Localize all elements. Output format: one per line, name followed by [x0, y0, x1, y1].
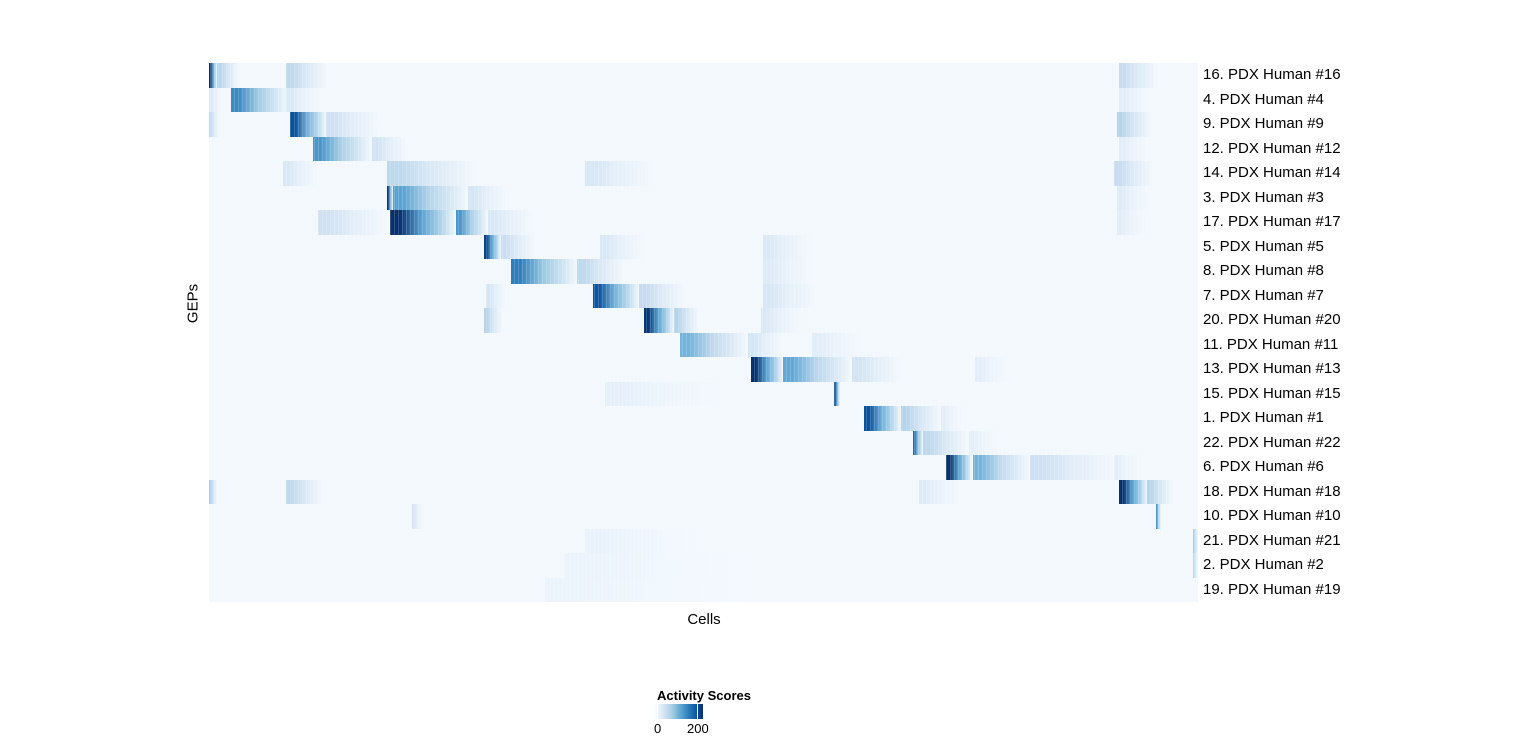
gep-row-label: 15. PDX Human #15	[1203, 382, 1341, 407]
colorbar-gradient	[655, 704, 703, 719]
heatmap-activity-block	[1193, 529, 1198, 554]
colorbar-legend: Activity Scores 0 200	[600, 688, 820, 743]
gep-row-label: 5. PDX Human #5	[1203, 235, 1324, 260]
heatmap-row	[209, 553, 1198, 578]
heatmap-activity-block	[387, 161, 476, 186]
heatmap-activity-block	[484, 235, 501, 260]
heatmap-row	[209, 431, 1198, 456]
heatmap-activity-block	[1119, 137, 1147, 162]
heatmap-row	[209, 382, 1198, 407]
heatmap-activity-block	[1147, 480, 1174, 505]
colorbar-tick-0	[657, 704, 658, 719]
heatmap-row	[209, 504, 1198, 529]
gep-row-label: 9. PDX Human #9	[1203, 112, 1324, 137]
heatmap-activity-block	[501, 235, 536, 260]
heatmap-row	[209, 63, 1198, 88]
heatmap-row	[209, 112, 1198, 137]
heatmap-activity-block	[1117, 210, 1147, 235]
heatmap-row	[209, 186, 1198, 211]
heatmap-activity-block	[209, 480, 217, 505]
heatmap-row	[209, 284, 1198, 309]
heatmap-activity-block	[763, 284, 817, 309]
heatmap-activity-block	[674, 308, 699, 333]
heatmap-activity-block	[1119, 63, 1159, 88]
gep-row-label: 11. PDX Human #11	[1203, 333, 1338, 358]
heatmap-activity-block	[393, 186, 468, 211]
heatmap-activity-block	[577, 259, 624, 284]
heatmap-activity-block	[372, 137, 407, 162]
heatmap-activity-block	[412, 504, 422, 529]
colorbar-ticklabel-200: 200	[687, 721, 709, 736]
heatmap-activity-block	[919, 480, 961, 505]
gep-row-label: 17. PDX Human #17	[1203, 210, 1341, 235]
heatmap-row	[209, 480, 1198, 505]
heatmap-activity-block	[290, 112, 326, 137]
heatmap-activity-block	[286, 63, 328, 88]
heatmap-row	[209, 406, 1198, 431]
heatmap-activity-block	[486, 284, 506, 309]
colorbar-title: Activity Scores	[600, 688, 808, 703]
heatmap-activity-block	[209, 88, 221, 113]
heatmap-row	[209, 259, 1198, 284]
heatmap-activity-block	[644, 308, 674, 333]
heatmap-activity-block	[783, 357, 852, 382]
heatmap-row	[209, 333, 1198, 358]
heatmap-activity-block	[456, 210, 488, 235]
gep-row-label-list: 16. PDX Human #164. PDX Human #49. PDX H…	[1203, 63, 1533, 602]
heatmap-activity-block	[975, 357, 1010, 382]
heatmap-activity-block	[283, 161, 318, 186]
heatmap-activity-block	[593, 284, 639, 309]
heatmap-activity-block	[585, 529, 704, 554]
heatmap-activity-block	[1030, 455, 1114, 480]
heatmap-row	[209, 529, 1198, 554]
heatmap-activity-block	[605, 382, 724, 407]
colorbar-tick-200	[697, 704, 698, 719]
heatmap-activity-block	[326, 112, 379, 137]
heatmap-activity-block	[969, 431, 1001, 456]
heatmap-activity-block	[1117, 112, 1151, 137]
heatmap-activity-block	[468, 186, 506, 211]
heatmap-activity-block	[812, 333, 861, 358]
heatmap-activity-block	[1193, 553, 1198, 578]
heatmap-activity-block	[313, 137, 372, 162]
heatmap-activity-block	[748, 333, 783, 358]
heatmap-activity-block	[941, 406, 963, 431]
heatmap-activity-block	[318, 210, 387, 235]
gep-row-label: 7. PDX Human #7	[1203, 284, 1324, 309]
heatmap-activity-block	[600, 235, 645, 260]
heatmap-activity-block	[852, 357, 901, 382]
heatmap-figure: GEPs Cells 16. PDX Human #164. PDX Human…	[0, 0, 1540, 743]
gep-row-label: 19. PDX Human #19	[1203, 578, 1341, 603]
heatmap-activity-block	[864, 406, 902, 431]
gep-row-label: 8. PDX Human #8	[1203, 259, 1324, 284]
heatmap-activity-block	[1114, 455, 1139, 480]
heatmap-activity-block	[488, 210, 535, 235]
heatmap-activity-block	[973, 455, 1030, 480]
gep-row-label: 18. PDX Human #18	[1203, 480, 1341, 505]
heatmap-activity-block	[1119, 480, 1147, 505]
heatmap-row	[209, 137, 1198, 162]
heatmap-activity-block	[390, 210, 456, 235]
x-axis-title: Cells	[609, 611, 799, 628]
gep-row-label: 4. PDX Human #4	[1203, 88, 1324, 113]
gep-row-label: 1. PDX Human #1	[1203, 406, 1324, 431]
heatmap-activity-block	[545, 578, 763, 603]
heatmap-row	[209, 578, 1198, 603]
y-axis-title: GEPs	[185, 274, 202, 334]
heatmap-activity-block	[751, 357, 783, 382]
gep-row-label: 14. PDX Human #14	[1203, 161, 1341, 186]
heatmap-activity-block	[1119, 88, 1151, 113]
heatmap-activity-block	[484, 308, 502, 333]
heatmap-activity-block	[946, 455, 973, 480]
heatmap-activity-block	[209, 63, 217, 88]
heatmap-activity-block	[834, 382, 840, 407]
heatmap-plot-area	[209, 63, 1198, 602]
gep-row-label: 3. PDX Human #3	[1203, 186, 1324, 211]
heatmap-activity-block	[901, 406, 941, 431]
gep-row-label: 12. PDX Human #12	[1203, 137, 1341, 162]
gep-row-label: 20. PDX Human #20	[1203, 308, 1341, 333]
heatmap-activity-block	[1114, 161, 1154, 186]
heatmap-activity-block	[923, 431, 968, 456]
gep-row-label: 6. PDX Human #6	[1203, 455, 1324, 480]
heatmap-activity-block	[511, 259, 577, 284]
gep-row-label: 21. PDX Human #21	[1203, 529, 1341, 554]
heatmap-row	[209, 235, 1198, 260]
heatmap-activity-block	[763, 235, 812, 260]
heatmap-row	[209, 455, 1198, 480]
colorbar-ticklabel-0: 0	[654, 721, 661, 736]
gep-row-label: 10. PDX Human #10	[1203, 504, 1341, 529]
heatmap-row	[209, 88, 1198, 113]
heatmap-activity-block	[231, 88, 288, 113]
heatmap-activity-block	[639, 284, 684, 309]
heatmap-activity-block	[217, 63, 239, 88]
heatmap-row	[209, 357, 1198, 382]
heatmap-activity-block	[763, 259, 814, 284]
gep-row-label: 22. PDX Human #22	[1203, 431, 1341, 456]
heatmap-activity-block	[209, 112, 219, 137]
gep-row-label: 2. PDX Human #2	[1203, 553, 1324, 578]
heatmap-activity-block	[565, 553, 763, 578]
heatmap-activity-block	[761, 308, 803, 333]
heatmap-activity-block	[286, 88, 320, 113]
heatmap-row	[209, 210, 1198, 235]
heatmap-row	[209, 308, 1198, 333]
heatmap-activity-block	[1156, 504, 1161, 529]
gep-row-label: 13. PDX Human #13	[1203, 357, 1341, 382]
heatmap-row	[209, 161, 1198, 186]
heatmap-activity-block	[585, 161, 654, 186]
heatmap-activity-block	[1117, 186, 1149, 211]
heatmap-activity-block	[286, 480, 323, 505]
heatmap-activity-block	[680, 333, 748, 358]
heatmap-activity-block	[913, 431, 923, 456]
gep-row-label: 16. PDX Human #16	[1203, 63, 1341, 88]
